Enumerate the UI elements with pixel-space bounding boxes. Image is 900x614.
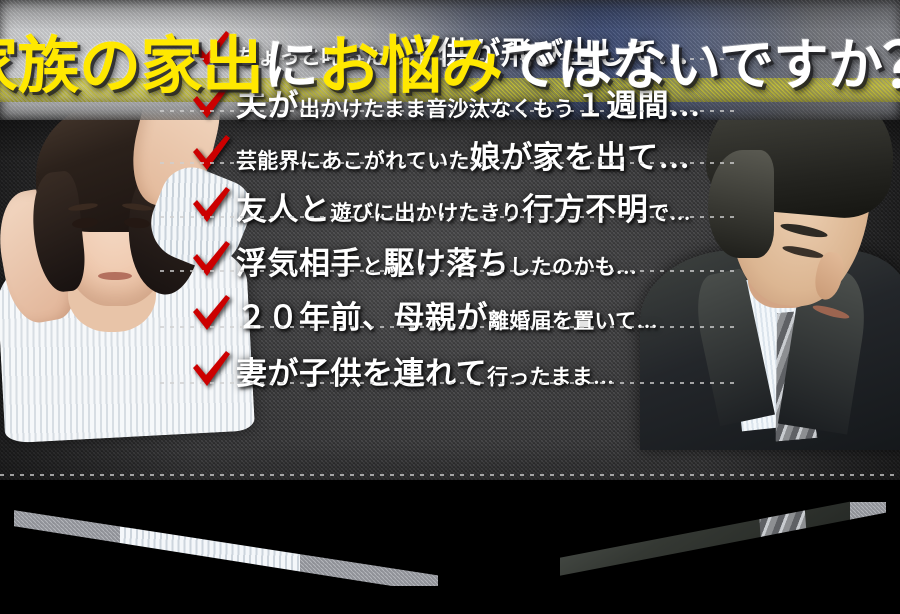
headline-segment-4: ？ [882,15,900,105]
checklist-text-part-1: 行ったまま… [487,365,614,389]
checklist-text-part-1: 遊びに出かけたきり [331,201,523,225]
banner-root: ちょっと叱ったら子供が飛び出して…夫が出かけたまま音沙汰なくもう１週間…芸能界に… [0,0,900,614]
checklist-text-part-0: 友人と [236,192,331,227]
checklist-item-label: ２０年前、母親が離婚届を置いて… [236,292,658,337]
checklist-item-label: 友人と遊びに出かけたきり行方不明で… [236,184,691,229]
checklist-text-part-1: と [362,255,383,279]
checklist-text-part-1: 離婚届を置いて… [488,309,658,333]
checklist-text-part-0: ２０年前、母親が [236,300,488,335]
checklist-item: 浮気相手と駆け落ちしたのかも… [190,232,710,288]
headline-segment-0: 家族の家出 [0,15,264,105]
checklist-text-part-3: で… [648,201,691,225]
checklist-item: 妻が子供を連れて行ったまま… [190,342,710,398]
checklist-item-label: 浮気相手と駆け落ちしたのかも… [236,238,637,283]
checklist-text-part-2: 駆け落ち [383,246,509,281]
red-check-icon [190,133,232,175]
red-check-icon [190,293,232,335]
checklist-text-part-0: 芸能界にあこがれていた [236,149,470,173]
black-chevron-divider [0,480,900,614]
checklist-item-label: 芸能界にあこがれていた娘が家を出て… [236,132,690,177]
checklist-item: 芸能界にあこがれていた娘が家を出て… [190,126,710,182]
red-check-icon [190,185,232,227]
checklist-separator [160,270,736,272]
checklist-text-part-2: 行方不明 [522,192,648,227]
headline-segment-2: お悩み [318,15,503,105]
checklist-text-part-3: したのかも… [509,255,637,279]
bottom-graphic [0,480,900,614]
checklist-item-label: 妻が子供を連れて行ったまま… [236,348,614,393]
checklist-separator [160,216,736,218]
checklist-separator [160,162,736,164]
checklist-separator [160,382,736,384]
checklist-separator [160,326,736,328]
checklist-text-part-0: 妻が子供を連れて [236,356,487,391]
page-title: 家族の家出にお悩みではないですか？ [0,24,900,96]
checklist-text-part-0: 浮気相手 [236,246,362,281]
red-check-icon [190,239,232,281]
checklist-text-part-1: 娘が家を出て… [470,140,691,175]
checklist-separator [160,110,736,112]
checklist-item: 友人と遊びに出かけたきり行方不明で… [190,178,710,234]
headline-segment-3: ではないですか [503,20,883,100]
bottom-seam-dots [0,470,900,482]
checklist-item: ２０年前、母親が離婚届を置いて… [190,286,710,342]
red-check-icon [190,349,232,391]
headline-segment-1: に [264,20,319,100]
